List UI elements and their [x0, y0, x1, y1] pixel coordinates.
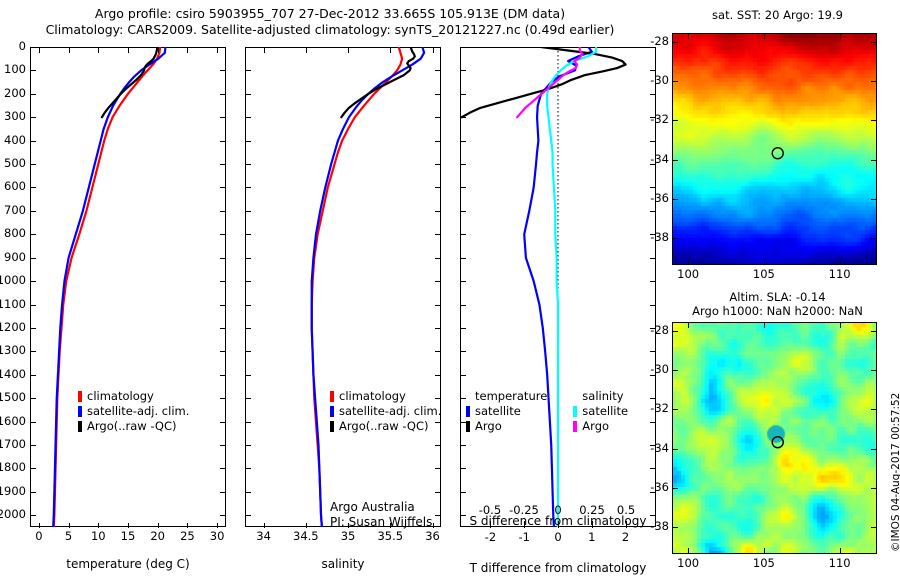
map-lat-tick — [871, 81, 876, 82]
depth-tick-mark — [31, 258, 36, 259]
depth-tick-mark — [461, 351, 466, 352]
map-lon-label: 110 — [818, 267, 862, 281]
depth-tick-mark — [461, 445, 466, 446]
legend-color-swatch — [573, 421, 577, 432]
depth-tick-mark — [31, 187, 36, 188]
depth-tick-mark-right — [435, 305, 440, 306]
depth-tick-mark-right — [435, 258, 440, 259]
legend-color-swatch — [330, 391, 334, 402]
map-lon-label: 100 — [666, 267, 710, 281]
map-lat-tick — [673, 409, 678, 410]
depth-tick-mark — [246, 445, 251, 446]
depth-tick-mark-right — [435, 328, 440, 329]
depth-tick-mark — [246, 258, 251, 259]
depth-tick-mark-right — [220, 117, 225, 118]
depth-tick-mark-right — [220, 398, 225, 399]
depth-tick-label: 600 — [0, 179, 26, 193]
depth-tick-mark-right — [650, 70, 655, 71]
depth-tick-mark-right — [220, 187, 225, 188]
depth-tick-mark-right — [435, 281, 440, 282]
map-lon-tick — [688, 34, 689, 39]
depth-tick-mark — [31, 422, 36, 423]
series-line-satellite-adj-clim- — [53, 47, 165, 527]
depth-tick-mark — [246, 375, 251, 376]
map-lat-label: -36 — [641, 480, 669, 494]
depth-tick-mark-right — [435, 492, 440, 493]
depth-tick-mark-right — [220, 515, 225, 516]
x-tick-mark-top — [128, 48, 129, 53]
depth-tick-mark-right — [220, 375, 225, 376]
x-tick-label: 35.5 — [368, 529, 412, 543]
x-tick-mark-top — [433, 48, 434, 53]
depth-tick-mark — [461, 70, 466, 71]
legend-color-swatch — [330, 406, 334, 417]
depth-tick-label: 100 — [0, 62, 26, 76]
depth-tick-mark — [246, 328, 251, 329]
map-lat-tick — [673, 370, 678, 371]
map-lon-tick — [688, 548, 689, 553]
map-lon-tick — [764, 34, 765, 39]
title-line-1: Argo profile: csiro 5903955_707 27-Dec-2… — [0, 6, 660, 22]
legend-label: satellite — [475, 404, 521, 419]
map-lon-tick — [764, 259, 765, 264]
depth-tick-mark-right — [220, 258, 225, 259]
depth-tick-mark-right — [220, 281, 225, 282]
temperature-axis-label: temperature (deg C) — [30, 557, 226, 571]
map-lat-tick — [871, 449, 876, 450]
depth-tick-mark-right — [435, 515, 440, 516]
depth-tick-mark-right — [650, 141, 655, 142]
x-tick-mark — [306, 523, 307, 528]
map-lon-label: 105 — [742, 556, 786, 570]
depth-tick-mark-right — [435, 234, 440, 235]
map-lat-tick — [673, 81, 678, 82]
legend-entry: Argo — [573, 419, 628, 434]
x-tick-mark-top — [98, 48, 99, 53]
depth-tick-mark — [246, 141, 251, 142]
s-difference-axis-label: S difference from climatology — [452, 514, 664, 528]
depth-tick-mark — [31, 47, 36, 48]
x-tick-mark — [128, 523, 129, 528]
depth-tick-mark — [31, 94, 36, 95]
depth-tick-mark — [246, 117, 251, 118]
map-lat-tick — [871, 527, 876, 528]
profile-location-marker — [772, 437, 783, 448]
map-lat-label: -30 — [641, 362, 669, 376]
map-lat-label: -38 — [641, 230, 669, 244]
map-lat-label: -28 — [641, 34, 669, 48]
depth-tick-label: 1200 — [0, 320, 26, 334]
legend-entry: satellite — [466, 404, 547, 419]
legend-header: temperature — [475, 389, 547, 404]
depth-tick-mark-right — [650, 258, 655, 259]
depth-tick-mark — [246, 187, 251, 188]
legend-label: satellite-adj. clim. — [87, 404, 189, 419]
map-lat-tick — [673, 527, 678, 528]
salinity-plot-area — [245, 47, 441, 527]
map-lat-label: -28 — [641, 323, 669, 337]
depth-tick-mark-right — [220, 164, 225, 165]
series-line-temperature-argo — [462, 47, 626, 117]
map-lat-tick — [871, 160, 876, 161]
map-lat-label: -34 — [641, 152, 669, 166]
map-lat-tick — [673, 488, 678, 489]
depth-tick-label: 1900 — [0, 484, 26, 498]
difference-plot-area — [460, 47, 656, 527]
depth-tick-label: 0 — [0, 39, 26, 53]
credit-line-1: Argo Australia — [330, 500, 432, 515]
x-tick-mark — [187, 523, 188, 528]
legend-column: temperaturesatelliteArgo — [466, 389, 547, 434]
depth-tick-mark — [246, 164, 251, 165]
map-lat-label: -36 — [641, 191, 669, 205]
legend-entry: satellite — [573, 404, 628, 419]
depth-tick-mark — [31, 234, 36, 235]
map-lon-tick — [764, 323, 765, 328]
map-lat-label: -32 — [641, 112, 669, 126]
temperature-legend: climatologysatellite-adj. clim.Argo(..ra… — [78, 389, 189, 434]
depth-tick-mark — [31, 305, 36, 306]
map-lat-tick — [673, 160, 678, 161]
depth-tick-mark-right — [650, 211, 655, 212]
series-line-salinity-satellite — [547, 47, 596, 527]
argo-australia-credit: Argo Australia PI: Susan Wijffels — [330, 500, 432, 530]
depth-tick-mark — [31, 398, 36, 399]
depth-tick-mark-right — [650, 351, 655, 352]
t-difference-axis-label: T difference from climatology — [452, 561, 664, 575]
depth-tick-mark — [31, 468, 36, 469]
depth-tick-mark — [246, 351, 251, 352]
depth-tick-label: 400 — [0, 133, 26, 147]
depth-tick-mark-right — [435, 187, 440, 188]
depth-tick-mark-right — [220, 94, 225, 95]
x-tick-mark — [158, 523, 159, 528]
map-lat-tick — [673, 42, 678, 43]
depth-tick-mark-right — [220, 70, 225, 71]
map-lon-tick — [840, 323, 841, 328]
depth-tick-label: 900 — [0, 250, 26, 264]
legend-color-swatch — [78, 406, 82, 417]
title-line-2: Climatology: CARS2009. Satellite-adjuste… — [0, 22, 660, 38]
map-lon-tick — [764, 548, 765, 553]
map-lat-tick — [673, 449, 678, 450]
x-tick-mark — [39, 523, 40, 528]
x-tick-mark-top — [217, 48, 218, 53]
depth-tick-mark — [461, 328, 466, 329]
legend-entry: satellite-adj. clim. — [78, 404, 189, 419]
depth-tick-label: 700 — [0, 203, 26, 217]
depth-tick-label: 1000 — [0, 273, 26, 287]
legend-entry: climatology — [330, 389, 441, 404]
series-line-satellite-adj-clim- — [312, 47, 424, 527]
sst-map-marker-overlay — [673, 34, 876, 264]
depth-tick-label: 1300 — [0, 343, 26, 357]
x-tick-mark-top — [158, 48, 159, 53]
depth-tick-mark — [31, 211, 36, 212]
map-lon-tick — [688, 259, 689, 264]
depth-tick-mark — [461, 375, 466, 376]
depth-tick-label: 2000 — [0, 507, 26, 521]
legend-label: Argo — [582, 419, 609, 434]
depth-tick-mark — [31, 515, 36, 516]
depth-tick-mark-right — [220, 305, 225, 306]
x-tick-mark-top — [187, 48, 188, 53]
depth-tick-mark-right — [220, 211, 225, 212]
x-tick-label: 35 — [326, 529, 370, 543]
credit-line-2: PI: Susan Wijffels — [330, 515, 432, 530]
sla-title-line-1: Altim. SLA: -0.14 — [655, 290, 900, 304]
x-tick-mark-top — [69, 48, 70, 53]
depth-tick-label: 800 — [0, 226, 26, 240]
map-lon-tick — [840, 259, 841, 264]
x-tick-mark — [264, 523, 265, 528]
legend-color-swatch — [573, 406, 577, 417]
difference-legend: temperaturesatelliteArgosalinitysatellit… — [466, 389, 628, 434]
depth-tick-mark-right — [435, 117, 440, 118]
depth-tick-mark — [246, 211, 251, 212]
depth-tick-mark — [31, 164, 36, 165]
legend-color-swatch — [466, 421, 470, 432]
x-tick-mark — [69, 523, 70, 528]
depth-tick-mark — [31, 351, 36, 352]
depth-tick-mark — [246, 305, 251, 306]
legend-label: satellite — [582, 404, 628, 419]
depth-tick-mark — [31, 281, 36, 282]
depth-tick-mark — [31, 328, 36, 329]
depth-tick-mark-right — [220, 328, 225, 329]
depth-tick-mark — [461, 468, 466, 469]
depth-tick-mark — [246, 281, 251, 282]
depth-tick-mark — [246, 94, 251, 95]
x-tick-label: 34 — [242, 529, 286, 543]
depth-tick-mark-right — [435, 445, 440, 446]
depth-tick-mark-right — [435, 94, 440, 95]
depth-tick-mark-right — [435, 70, 440, 71]
depth-tick-label: 1700 — [0, 437, 26, 451]
copyright-text: ©IMOS 04-Aug-2017 00:57:52 — [890, 393, 900, 552]
depth-tick-mark — [461, 141, 466, 142]
depth-tick-label: 1500 — [0, 390, 26, 404]
legend-label: Argo(..raw -QC) — [339, 419, 429, 434]
x-tick-label: 36 — [411, 529, 455, 543]
depth-tick-mark — [461, 492, 466, 493]
depth-tick-mark — [246, 515, 251, 516]
depth-tick-mark-right — [435, 351, 440, 352]
sla-map-title: Altim. SLA: -0.14 Argo h1000: NaN h2000:… — [655, 290, 900, 318]
depth-tick-label: 1800 — [0, 460, 26, 474]
legend-column: salinitysatelliteArgo — [573, 389, 628, 434]
depth-tick-mark-right — [435, 468, 440, 469]
depth-tick-mark — [31, 117, 36, 118]
depth-tick-label: 1100 — [0, 297, 26, 311]
legend-label: Argo(..raw -QC) — [87, 419, 177, 434]
legend-header: salinity — [582, 389, 628, 404]
depth-tick-mark-right — [650, 398, 655, 399]
x-tick-mark-top — [390, 48, 391, 53]
x-tick-label: 30 — [195, 529, 239, 543]
depth-tick-mark — [461, 117, 466, 118]
figure-title: Argo profile: csiro 5903955_707 27-Dec-2… — [0, 6, 660, 38]
sla-title-line-2: Argo h1000: NaN h2000: NaN — [655, 304, 900, 318]
map-lon-label: 105 — [742, 267, 786, 281]
depth-tick-mark — [246, 47, 251, 48]
map-lat-tick — [871, 42, 876, 43]
depth-tick-mark — [246, 468, 251, 469]
map-lat-tick — [673, 238, 678, 239]
x-tick-label: 34.5 — [284, 529, 328, 543]
depth-tick-mark-right — [220, 422, 225, 423]
legend-color-swatch — [78, 421, 82, 432]
depth-tick-mark-right — [650, 94, 655, 95]
x-tick-mark — [217, 523, 218, 528]
depth-tick-mark-right — [435, 375, 440, 376]
depth-tick-mark — [461, 234, 466, 235]
depth-tick-mark — [461, 187, 466, 188]
salinity-legend: climatologysatellite-adj. clim.Argo(..ra… — [330, 389, 441, 434]
depth-tick-mark-right — [220, 351, 225, 352]
map-lat-label: -30 — [641, 73, 669, 87]
map-lon-tick — [840, 34, 841, 39]
salinity-axis-label: salinity — [245, 557, 441, 571]
depth-tick-mark-right — [220, 141, 225, 142]
depth-tick-mark-right — [650, 468, 655, 469]
map-lat-label: -38 — [641, 519, 669, 533]
x-tick-mark-top — [348, 48, 349, 53]
map-lat-tick — [673, 120, 678, 121]
legend-color-swatch — [466, 406, 470, 417]
depth-tick-mark — [461, 47, 466, 48]
map-lon-tick — [840, 548, 841, 553]
depth-tick-mark-right — [650, 422, 655, 423]
series-line-argo-raw-qc- — [341, 47, 415, 117]
x-tick-mark-top — [306, 48, 307, 53]
x-tick-mark-top — [264, 48, 265, 53]
legend-entry: Argo — [466, 419, 547, 434]
map-lat-tick — [871, 238, 876, 239]
map-lat-tick — [871, 199, 876, 200]
legend-entry: Argo(..raw -QC) — [330, 419, 441, 434]
depth-tick-mark — [31, 375, 36, 376]
depth-tick-mark-right — [220, 492, 225, 493]
legend-label: climatology — [339, 389, 406, 404]
depth-tick-label: 300 — [0, 109, 26, 123]
map-lat-tick — [871, 331, 876, 332]
map-lat-tick — [673, 331, 678, 332]
depth-tick-mark-right — [220, 234, 225, 235]
depth-tick-mark — [246, 234, 251, 235]
depth-tick-mark — [246, 70, 251, 71]
depth-tick-mark — [31, 492, 36, 493]
x-tick-mark-top — [39, 48, 40, 53]
depth-tick-mark — [31, 445, 36, 446]
depth-tick-label: 200 — [0, 86, 26, 100]
legend-color-swatch — [78, 391, 82, 402]
map-lat-tick — [673, 199, 678, 200]
depth-tick-mark-right — [220, 468, 225, 469]
x-tick-mark — [433, 523, 434, 528]
depth-tick-mark — [246, 492, 251, 493]
map-lon-label: 100 — [666, 556, 710, 570]
map-lat-tick — [871, 488, 876, 489]
depth-tick-mark-right — [220, 445, 225, 446]
legend-label: climatology — [87, 389, 154, 404]
depth-tick-mark — [461, 211, 466, 212]
depth-tick-mark-right — [435, 47, 440, 48]
legend-entry: climatology — [78, 389, 189, 404]
depth-tick-label: 500 — [0, 156, 26, 170]
depth-tick-mark — [461, 164, 466, 165]
depth-tick-mark — [461, 305, 466, 306]
depth-tick-mark-right — [435, 141, 440, 142]
depth-tick-mark — [461, 281, 466, 282]
depth-tick-mark-right — [650, 281, 655, 282]
map-lat-tick — [871, 409, 876, 410]
legend-label: Argo — [475, 419, 502, 434]
depth-tick-mark-right — [650, 187, 655, 188]
sla-map-marker-overlay — [673, 323, 876, 553]
depth-tick-mark — [31, 141, 36, 142]
map-lon-label: 110 — [818, 556, 862, 570]
depth-tick-mark — [246, 398, 251, 399]
map-lat-tick — [871, 370, 876, 371]
depth-tick-label: 1600 — [0, 414, 26, 428]
map-lat-label: -34 — [641, 441, 669, 455]
map-lat-tick — [871, 120, 876, 121]
sst-map-title: sat. SST: 20 Argo: 19.9 — [655, 8, 900, 22]
depth-tick-mark — [31, 70, 36, 71]
depth-tick-mark-right — [435, 211, 440, 212]
legend-label: satellite-adj. clim. — [339, 404, 441, 419]
map-lon-tick — [688, 323, 689, 328]
depth-tick-mark-right — [435, 164, 440, 165]
depth-tick-mark — [461, 258, 466, 259]
legend-entry: satellite-adj. clim. — [330, 404, 441, 419]
x-tick-mark — [98, 523, 99, 528]
legend-entry: Argo(..raw -QC) — [78, 419, 189, 434]
profile-location-marker — [772, 148, 783, 159]
temperature-plot-area — [30, 47, 226, 527]
depth-tick-label: 1400 — [0, 367, 26, 381]
depth-tick-mark — [461, 94, 466, 95]
map-lat-label: -32 — [641, 401, 669, 415]
depth-tick-mark-right — [220, 47, 225, 48]
series-line-climatology — [312, 47, 402, 527]
legend-color-swatch — [330, 421, 334, 432]
depth-tick-mark — [246, 422, 251, 423]
